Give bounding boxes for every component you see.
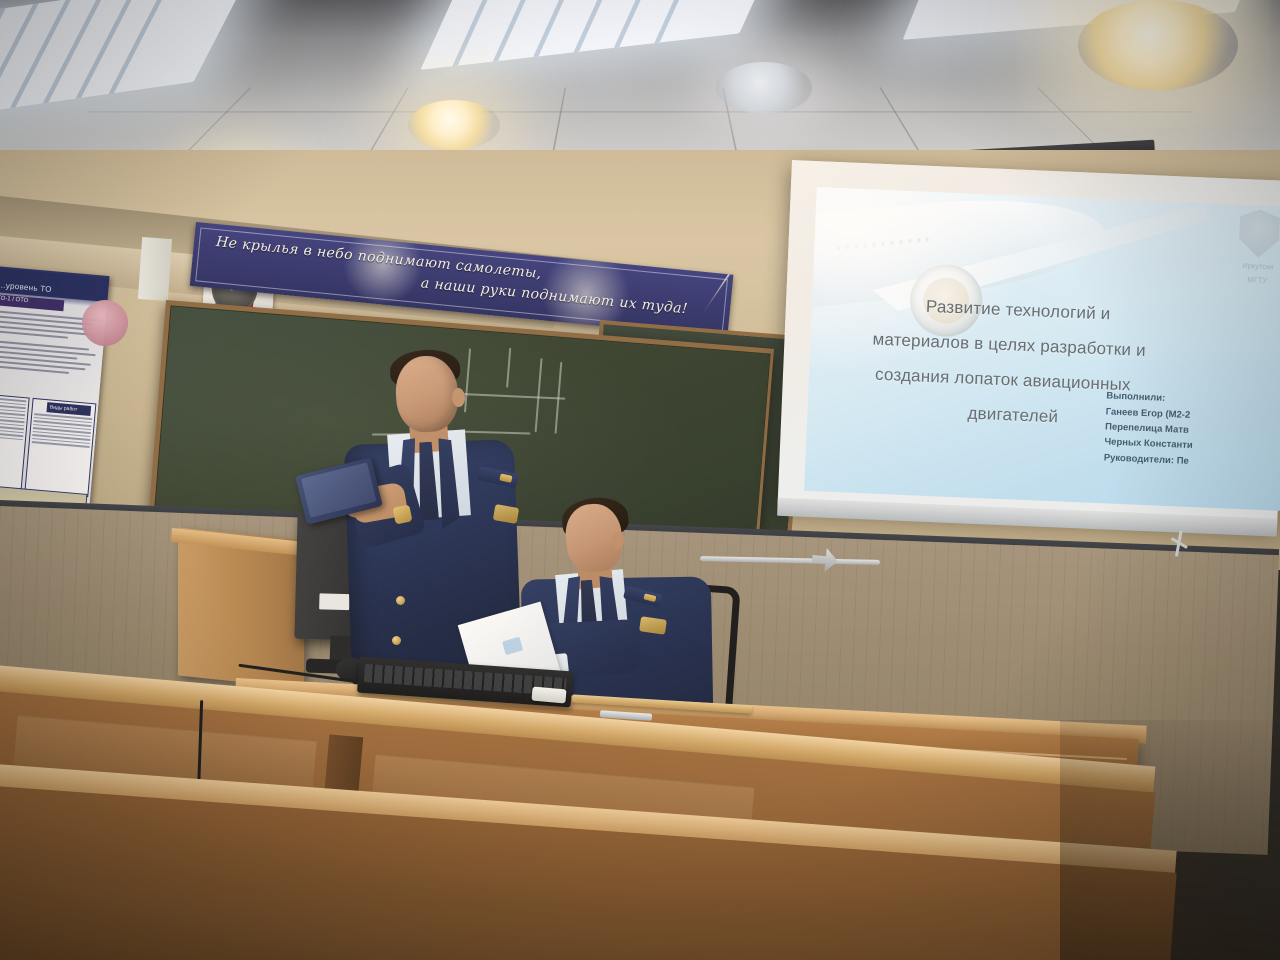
pendant-lamp — [1078, 0, 1238, 90]
fluorescent-panel-light — [420, 0, 783, 70]
seated-ear — [612, 532, 624, 549]
wall-duct — [138, 237, 172, 301]
lecture-hall-photo: ...уровень ТО ТО-1 / ОТО Виды работ — [0, 0, 1280, 960]
projection-screen: Развитие технологий и материалов в целях… — [778, 160, 1280, 527]
jacket-button — [396, 596, 405, 605]
slide-authors-block: Выполнили: Ганеев Егор (М2-2 Перепелица … — [1103, 389, 1280, 474]
right-shadow-corner — [1060, 720, 1280, 960]
pendant-lamp — [716, 62, 812, 114]
presentation-remote[interactable] — [531, 687, 566, 704]
crest-icon — [1238, 209, 1280, 259]
poster-table-right: Виды работ — [24, 398, 96, 497]
university-crest-logo: Иркутски МГТУ — [1228, 208, 1280, 306]
poster-subheader-text: ТО-1 / ОТО — [0, 295, 28, 304]
wristwatch — [392, 504, 412, 524]
crest-line-1: Иркутски — [1230, 260, 1280, 272]
jacket-button — [392, 636, 401, 645]
pendant-lamp — [408, 100, 500, 150]
presentation-slide: Развитие технологий и материалов в целях… — [804, 187, 1280, 511]
poster-table-title: Виды работ — [50, 404, 78, 412]
monitor-label-sticker — [319, 593, 349, 610]
crest-line-2: МГТУ — [1229, 274, 1280, 286]
poster-header-text: ...уровень ТО — [0, 280, 52, 294]
